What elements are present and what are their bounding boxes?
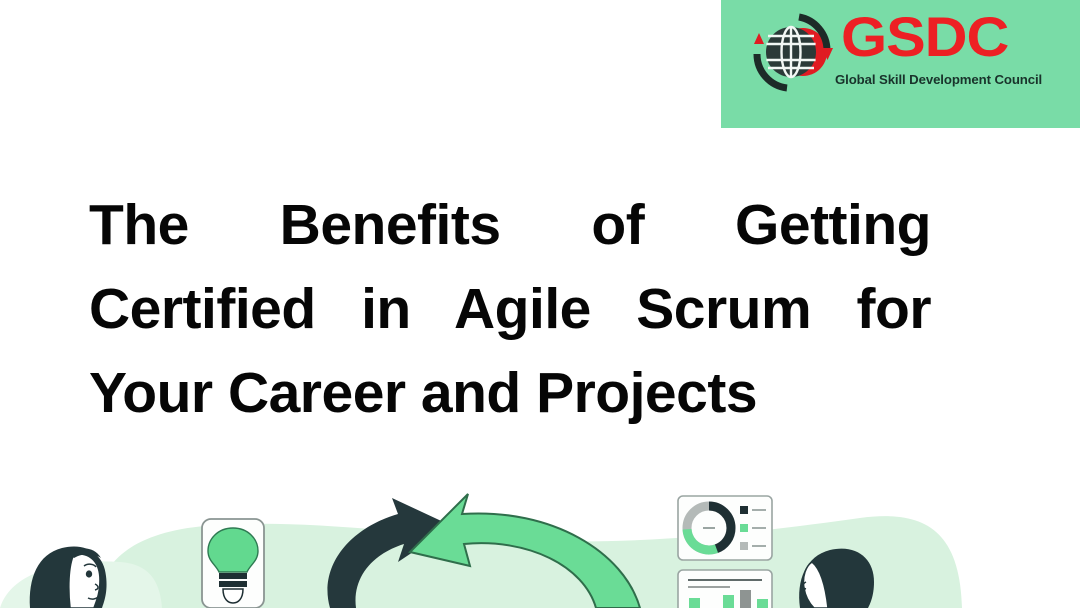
slide-title-block: The Benefits of Getting Certified in Agi… — [89, 183, 931, 435]
gsdc-logo-banner: GSDC Global Skill Development Council — [721, 0, 1080, 128]
gsdc-wordmark: GSDC — [841, 6, 1071, 68]
gsdc-wordmark-text: GSDC — [841, 6, 1080, 68]
person-left — [30, 546, 107, 608]
gsdc-globe-logo-icon — [743, 8, 843, 100]
donut-chart-card — [678, 496, 772, 560]
bar-chart-card — [678, 570, 772, 608]
gsdc-tagline-text: Global Skill Development Council — [835, 72, 1075, 88]
lightbulb-card — [202, 519, 264, 608]
agile-scrum-teamwork-illustration — [0, 470, 1080, 608]
page-title: The Benefits of Getting Certified in Agi… — [89, 183, 931, 435]
slide-canvas: GSDC Global Skill Development Council Th… — [0, 0, 1080, 608]
gsdc-tagline: Global Skill Development Council — [835, 72, 1075, 88]
